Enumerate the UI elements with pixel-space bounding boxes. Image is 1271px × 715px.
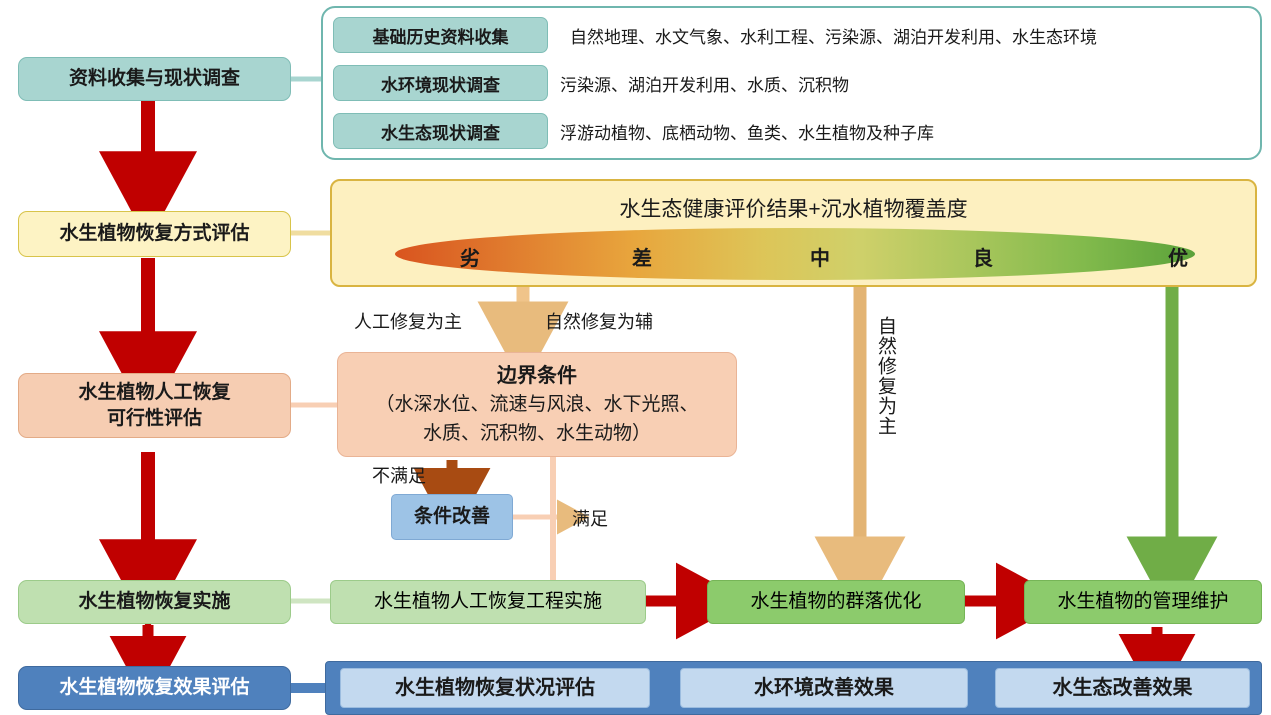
branch-label-natural-main: 自然修复为主 xyxy=(872,316,899,496)
branch-label-artificial: 人工修复为主 xyxy=(354,308,462,334)
stage-restoration-implementation[interactable]: 水生植物恢复实施 xyxy=(18,580,291,624)
grade-label-4: 优 xyxy=(1148,242,1208,271)
effect-item-0-label: 水生植物恢复状况评估 xyxy=(395,675,595,702)
effect-item-2-label: 水生态改善效果 xyxy=(1053,675,1193,702)
label-not-satisfied: 不满足 xyxy=(372,462,426,488)
collection-row-1-title-label: 水环境现状调查 xyxy=(381,71,500,96)
stage-feasibility-eval[interactable]: 水生植物人工恢复 可行性评估 xyxy=(18,373,291,438)
community-optimization-box[interactable]: 水生植物的群落优化 xyxy=(707,580,965,624)
label-satisfied: 满足 xyxy=(572,505,608,531)
stage-restoration-mode-eval-label: 水生植物恢复方式评估 xyxy=(59,221,249,247)
community-optimization-label: 水生植物的群落优化 xyxy=(750,589,921,615)
effect-item-2[interactable]: 水生态改善效果 xyxy=(995,668,1250,708)
grade-label-1: 差 xyxy=(612,242,672,271)
stage-feasibility-eval-label: 水生植物人工恢复 可行性评估 xyxy=(78,380,230,431)
stage-restoration-mode-eval[interactable]: 水生植物恢复方式评估 xyxy=(18,211,291,257)
effect-item-1-label: 水环境改善效果 xyxy=(754,675,894,702)
collection-row-2-detail: 浮游动植物、底栖动物、鱼类、水生植物及种子库 xyxy=(560,113,1250,149)
evaluation-title: 水生态健康评价结果+沉水植物覆盖度 xyxy=(332,193,1255,223)
collection-row-0-title-label: 基础历史资料收集 xyxy=(373,23,509,48)
engineering-implementation-label: 水生植物人工恢复工程实施 xyxy=(374,589,602,615)
management-maintenance-box[interactable]: 水生植物的管理维护 xyxy=(1024,580,1262,624)
diagram-canvas: 资料收集与现状调查 基础历史资料收集 自然地理、水文气象、水利工程、污染源、湖泊… xyxy=(0,0,1271,715)
grade-label-3: 良 xyxy=(953,242,1013,271)
collection-row-1-title[interactable]: 水环境现状调查 xyxy=(333,65,548,101)
branch-label-natural-aux: 自然修复为辅 xyxy=(545,308,653,334)
condition-improve-box[interactable]: 条件改善 xyxy=(391,494,513,540)
grade-label-0: 劣 xyxy=(440,242,500,271)
boundary-line1: （水深水位、流速与风浪、水下光照、 xyxy=(375,391,698,420)
stage-restoration-implementation-label: 水生植物恢复实施 xyxy=(78,589,230,615)
stage-data-collection[interactable]: 资料收集与现状调查 xyxy=(18,57,291,101)
effect-item-1[interactable]: 水环境改善效果 xyxy=(680,668,968,708)
stage-effect-eval-label: 水生植物恢复效果评估 xyxy=(59,675,249,701)
collection-row-1-detail: 污染源、湖泊开发利用、水质、沉积物 xyxy=(560,65,1250,101)
stage-data-collection-label: 资料收集与现状调查 xyxy=(69,66,240,92)
condition-improve-label: 条件改善 xyxy=(414,504,490,530)
collection-row-0-title[interactable]: 基础历史资料收集 xyxy=(333,17,548,53)
boundary-conditions-box: 边界条件 （水深水位、流速与风浪、水下光照、 水质、沉积物、水生动物） xyxy=(337,352,737,457)
boundary-line2: 水质、沉积物、水生动物） xyxy=(423,420,651,449)
collection-row-2-title-label: 水生态现状调查 xyxy=(381,119,500,144)
boundary-title: 边界条件 xyxy=(497,361,577,391)
effect-item-0[interactable]: 水生植物恢复状况评估 xyxy=(340,668,650,708)
grade-label-2: 中 xyxy=(790,242,850,271)
management-maintenance-label: 水生植物的管理维护 xyxy=(1057,589,1228,615)
engineering-implementation-box[interactable]: 水生植物人工恢复工程实施 xyxy=(330,580,646,624)
collection-row-0-detail: 自然地理、水文气象、水利工程、污染源、湖泊开发利用、水生态环境 xyxy=(570,17,1250,53)
stage-effect-eval[interactable]: 水生植物恢复效果评估 xyxy=(18,666,291,710)
collection-row-2-title[interactable]: 水生态现状调查 xyxy=(333,113,548,149)
